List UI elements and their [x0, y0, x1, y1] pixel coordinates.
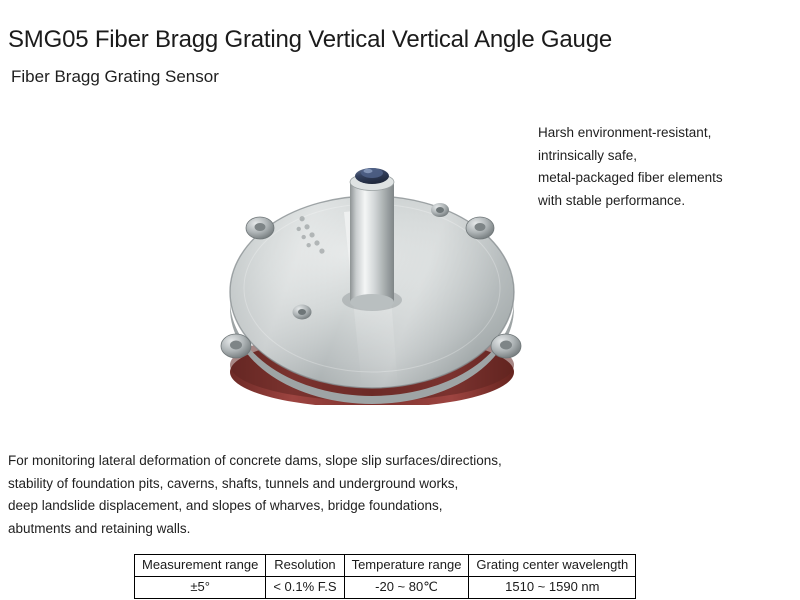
feature-line: intrinsically safe,	[538, 145, 796, 168]
face-screw	[431, 203, 449, 217]
cell-temperature-range: -20 ~ 80℃	[344, 577, 469, 599]
rim-bolt	[466, 217, 494, 239]
feature-line: with stable performance.	[538, 190, 796, 213]
product-illustration	[212, 150, 532, 405]
center-post	[342, 174, 402, 312]
post-cap	[355, 168, 389, 184]
page-title: SMG05 Fiber Bragg Grating Vertical Verti…	[8, 25, 612, 55]
cell-grating-center-wavelength: 1510 ~ 1590 nm	[469, 577, 636, 599]
column-header-temperature-range: Temperature range	[344, 555, 469, 577]
page-subtitle: Fiber Bragg Grating Sensor	[11, 66, 219, 88]
specification-table: Measurement range Resolution Temperature…	[134, 554, 636, 599]
application-line: stability of foundation pits, caverns, s…	[8, 473, 628, 496]
face-screw	[293, 305, 312, 320]
feature-line: Harsh environment-resistant,	[538, 122, 796, 145]
feature-line: metal-packaged fiber elements	[538, 167, 796, 190]
table-header-row: Measurement range Resolution Temperature…	[135, 555, 636, 577]
column-header-resolution: Resolution	[266, 555, 344, 577]
cell-resolution: < 0.1% F.S	[266, 577, 344, 599]
cell-measurement-range: ±5°	[135, 577, 266, 599]
feature-list: Harsh environment-resistant, intrinsical…	[538, 122, 796, 212]
application-description: For monitoring lateral deformation of co…	[8, 450, 628, 540]
table-row: ±5° < 0.1% F.S -20 ~ 80℃ 1510 ~ 1590 nm	[135, 577, 636, 599]
rim-bolt	[246, 217, 274, 239]
application-line: For monitoring lateral deformation of co…	[8, 450, 628, 473]
rim-bolt	[221, 334, 251, 358]
column-header-measurement-range: Measurement range	[135, 555, 266, 577]
application-line: abutments and retaining walls.	[8, 518, 628, 541]
product-photo	[212, 150, 532, 405]
rim-bolt	[491, 334, 521, 358]
column-header-grating-center-wavelength: Grating center wavelength	[469, 555, 636, 577]
application-line: deep landslide displacement, and slopes …	[8, 495, 628, 518]
